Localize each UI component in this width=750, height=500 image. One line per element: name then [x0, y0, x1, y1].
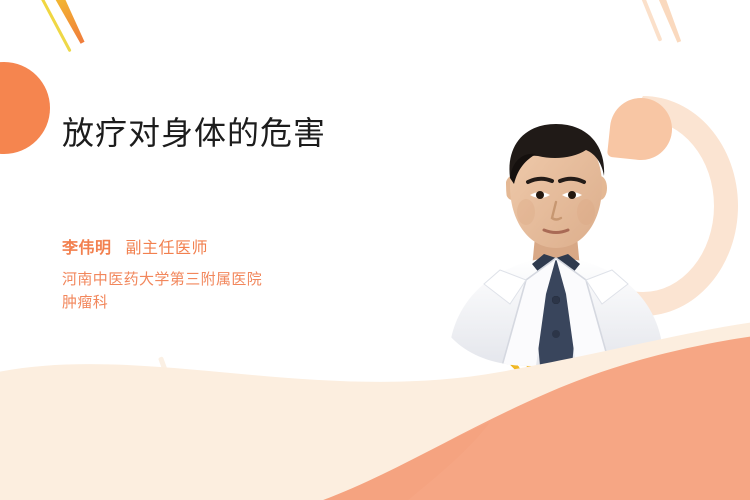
doctor-portrait-photo — [440, 108, 672, 366]
bottom-strong-wave-icon — [300, 330, 750, 500]
doctor-name: 李伟明 — [62, 234, 112, 258]
doctor-credential-row: 李伟明 副主任医师 — [62, 234, 432, 258]
peach-crescent-ring-icon — [548, 96, 738, 316]
orange-diagonal-stroke-icon — [50, 0, 88, 45]
medical-info-card: 放疗对身体的危害 李伟明 副主任医师 河南中医药大学第三附属医院 肿瘤科 — [0, 0, 750, 500]
bottom-light-wave-icon — [0, 320, 750, 500]
peach-blob-icon — [607, 95, 675, 163]
cream-diagonal-stroke-icon — [158, 356, 177, 397]
page-title: 放疗对身体的危害 — [62, 114, 432, 152]
orange-half-circle-icon — [0, 62, 50, 154]
doctor-hospital: 河南中医药大学第三附属医院 — [62, 269, 432, 292]
doctor-affiliation: 河南中医药大学第三附属医院 肿瘤科 — [62, 269, 432, 314]
peach-diagonal-stroke-thick-icon — [652, 0, 683, 43]
doctor-title: 副主任医师 — [126, 234, 209, 258]
yellow-diagonal-stroke-icon — [38, 0, 72, 52]
text-block: 放疗对身体的危害 李伟明 副主任医师 河南中医药大学第三附属医院 肿瘤科 — [62, 114, 432, 314]
yellow-striped-semicircle-icon — [503, 276, 633, 406]
doctor-department: 肿瘤科 — [62, 292, 432, 315]
peach-diagonal-stroke-icon — [637, 0, 662, 42]
